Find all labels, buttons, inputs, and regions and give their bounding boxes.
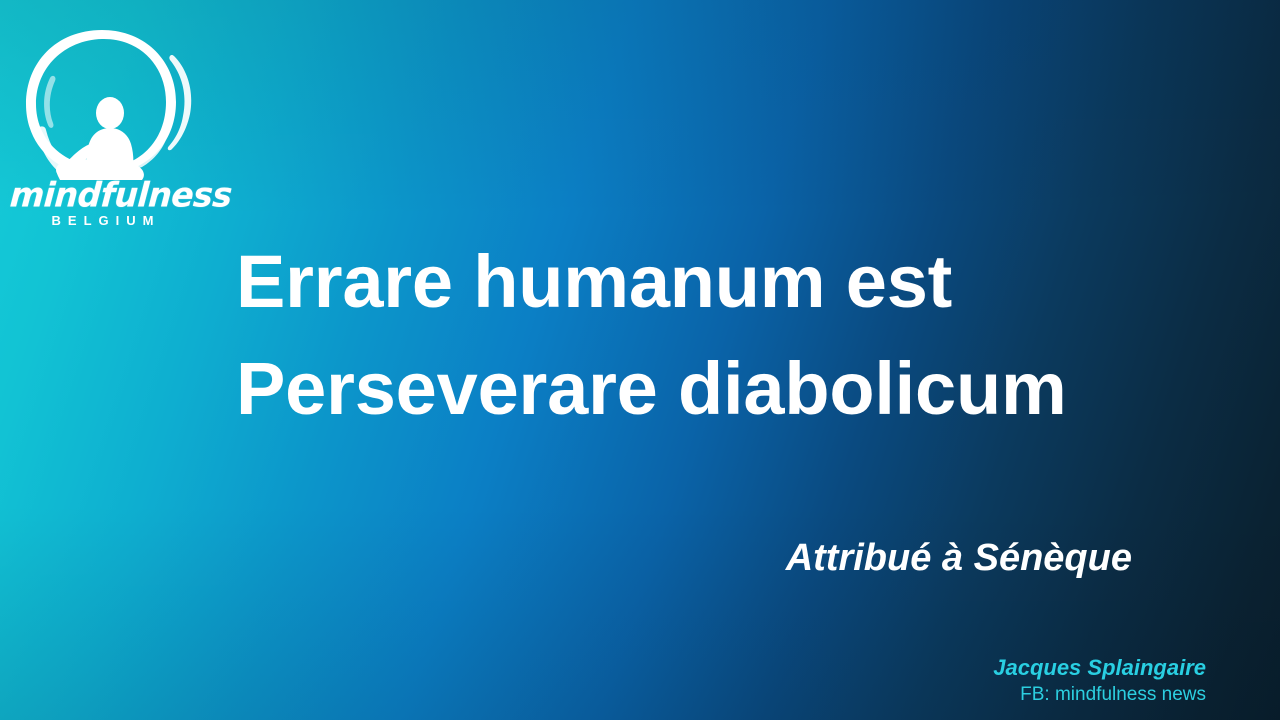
presentation-slide: mindfulness BELGIUM Errare humanum est P… (0, 0, 1280, 720)
title-line-1: Errare humanum est (236, 228, 1216, 335)
slide-footer: Jacques Splaingaire FB: mindfulness news (993, 654, 1206, 708)
slide-title: Errare humanum est Perseverare diabolicu… (236, 228, 1216, 442)
footer-author-name: Jacques Splaingaire (993, 654, 1206, 682)
meditating-figure-icon (56, 97, 144, 180)
logo-wordmark: mindfulness BELGIUM (10, 178, 195, 230)
footer-social-handle: FB: mindfulness news (993, 682, 1206, 708)
logo-wordmark-text: mindfulness (9, 177, 196, 212)
logo-subtitle-text: BELGIUM (10, 212, 195, 230)
title-line-2: Perseverare diabolicum (236, 335, 1216, 442)
enso-circle-icon (10, 18, 210, 193)
mindfulness-belgium-logo: mindfulness BELGIUM (10, 18, 210, 233)
quote-attribution: Attribué à Sénèque (240, 535, 1132, 581)
